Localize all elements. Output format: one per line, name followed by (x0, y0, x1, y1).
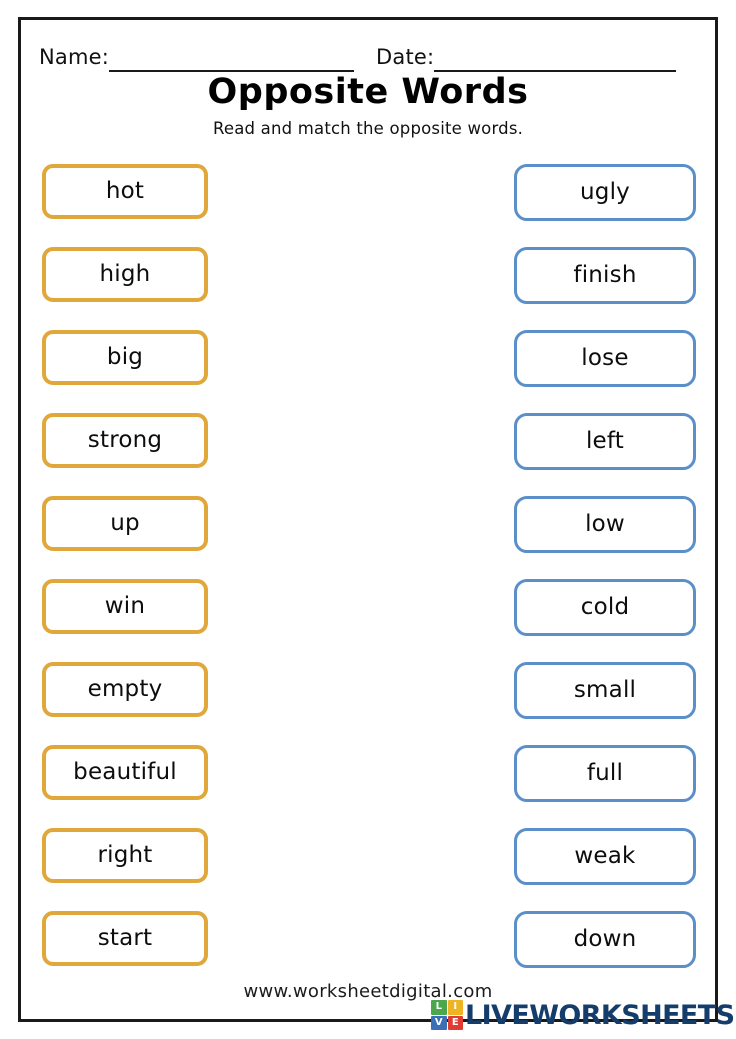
title-block: Opposite Words Read and match the opposi… (21, 72, 715, 138)
word-box-left[interactable]: strong (42, 413, 208, 468)
word-box-left[interactable]: win (42, 579, 208, 634)
word-box-right[interactable]: cold (514, 579, 696, 636)
word-box-right[interactable]: lose (514, 330, 696, 387)
word-box-left[interactable]: start (42, 911, 208, 966)
word-label: high (100, 263, 151, 286)
word-box-right[interactable]: left (514, 413, 696, 470)
word-box-right[interactable]: low (514, 496, 696, 553)
name-date-row: Name: Date: (21, 20, 715, 72)
logo-tile-l: L (431, 1000, 447, 1015)
page-subtitle: Read and match the opposite words. (21, 119, 715, 138)
word-label: cold (581, 596, 630, 619)
word-label: strong (88, 429, 162, 452)
word-box-left[interactable]: hot (42, 164, 208, 219)
word-label: hot (106, 180, 144, 203)
word-box-right[interactable]: small (514, 662, 696, 719)
word-label: big (107, 346, 143, 369)
word-label: weak (574, 845, 635, 868)
word-box-right[interactable]: weak (514, 828, 696, 885)
word-label: beautiful (73, 761, 177, 784)
logo-tile-v: V (431, 1016, 447, 1031)
word-box-left[interactable]: high (42, 247, 208, 302)
word-box-left[interactable]: big (42, 330, 208, 385)
word-box-left[interactable]: right (42, 828, 208, 883)
word-box-left[interactable]: beautiful (42, 745, 208, 800)
word-box-right[interactable]: down (514, 911, 696, 968)
liveworksheets-watermark: L I V E LIVEWORKSHEETS (431, 997, 734, 1033)
word-label: lose (581, 347, 628, 370)
word-label: full (587, 762, 623, 785)
name-label: Name: (39, 47, 109, 72)
word-label: up (110, 512, 140, 535)
word-label: low (585, 513, 625, 536)
word-columns: hot high big strong up win empty beautif… (21, 164, 715, 984)
page-title: Opposite Words (21, 72, 715, 112)
word-label: small (574, 679, 636, 702)
name-input[interactable] (109, 46, 354, 72)
date-label: Date: (376, 47, 434, 72)
word-label: win (105, 595, 145, 618)
word-box-right[interactable]: full (514, 745, 696, 802)
word-label: right (97, 844, 152, 867)
word-box-right[interactable]: finish (514, 247, 696, 304)
liveworksheets-logo-icon: L I V E (431, 1000, 463, 1030)
word-box-left[interactable]: up (42, 496, 208, 551)
word-label: ugly (580, 181, 630, 204)
word-label: left (586, 430, 624, 453)
word-label: start (98, 927, 153, 950)
logo-tile-e: E (448, 1016, 464, 1031)
word-box-right[interactable]: ugly (514, 164, 696, 221)
worksheet-page: Name: Date: Opposite Words Read and matc… (18, 17, 718, 1022)
word-label: down (574, 928, 637, 951)
word-box-left[interactable]: empty (42, 662, 208, 717)
logo-tile-i: I (448, 1000, 464, 1015)
liveworksheets-wordmark: LIVEWORKSHEETS (465, 1002, 734, 1029)
word-label: finish (573, 264, 636, 287)
left-word-column: hot high big strong up win empty beautif… (42, 164, 208, 984)
date-input[interactable] (434, 46, 676, 72)
word-label: empty (88, 678, 163, 701)
right-word-column: ugly finish lose left low cold small ful… (514, 164, 696, 984)
